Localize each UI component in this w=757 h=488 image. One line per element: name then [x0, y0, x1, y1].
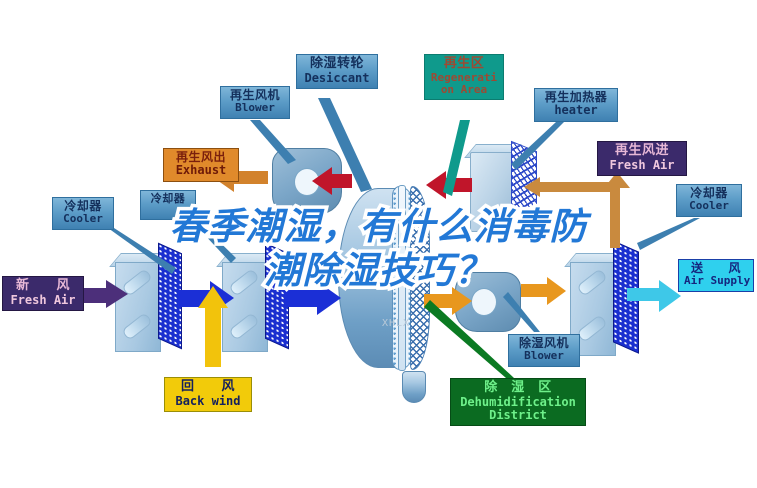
label-back-wind[interactable]: 回 风 Back wind [164, 377, 252, 412]
label-air-supply[interactable]: 送 风 Air Supply [678, 259, 754, 292]
diagram-canvas: XHLX [0, 0, 757, 488]
label-regeneration-area[interactable]: 再生区 Regenerati on Area [424, 54, 504, 100]
label-fresh-air[interactable]: 新 风 Fresh Air [2, 276, 84, 311]
label-desiccant[interactable]: 除湿转轮 Desiccant [296, 54, 378, 89]
label-regen-fresh-air[interactable]: 再生风进 Fresh Air [597, 141, 687, 176]
label-regen-heater[interactable]: 再生加热器 heater [534, 88, 618, 122]
label-cooler-right[interactable]: 冷却器 Cooler [676, 184, 742, 217]
leader-lines [0, 0, 757, 488]
label-cooler-mid[interactable]: 冷却器 [140, 190, 196, 220]
label-exhaust[interactable]: 再生风出 Exhaust [163, 148, 239, 182]
label-cooler-left[interactable]: 冷却器 Cooler [52, 197, 114, 230]
label-dehum-blower[interactable]: 除湿风机 Blower [508, 334, 580, 367]
label-dehum-district[interactable]: 除 湿 区 Dehumidification District [450, 378, 586, 426]
label-regen-blower[interactable]: 再生风机 Blower [220, 86, 290, 119]
